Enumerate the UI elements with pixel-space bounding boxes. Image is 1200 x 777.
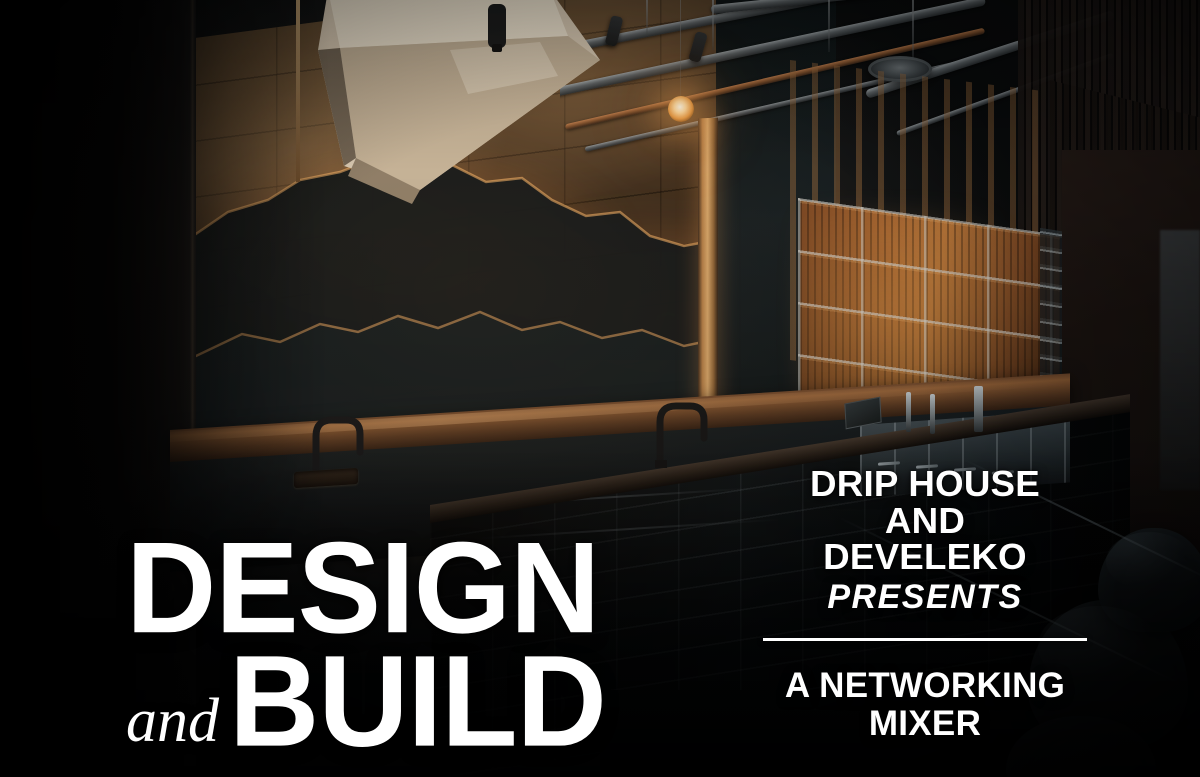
headline-block: DESIGN and BUILD [126,530,686,760]
presenter-conjunction-and: AND [757,503,1094,540]
headline-line-build-row: and BUILD [126,642,686,760]
event-poster: DESIGN and BUILD DRIP HOUSE AND DEVELEKO… [0,0,1200,777]
subtitle-block: A NETWORKING MIXER [760,667,1090,743]
presenter-name-drip-house: DRIP HOUSE [757,466,1094,503]
presenter-block: DRIP HOUSE AND DEVELEKO PRESENTS A NETWO… [760,466,1090,743]
headline-line-build: BUILD [229,643,606,760]
presenter-name-develeko: DEVELEKO [757,539,1094,576]
headline-connector-and: and [126,690,219,752]
presents-label: PRESENTS [760,578,1090,616]
typography-overlay: DESIGN and BUILD DRIP HOUSE AND DEVELEKO… [0,0,1200,777]
horizontal-rule-divider [763,638,1087,641]
subtitle-line-mixer: MIXER [760,705,1090,743]
subtitle-line-networking: A NETWORKING [760,667,1090,705]
